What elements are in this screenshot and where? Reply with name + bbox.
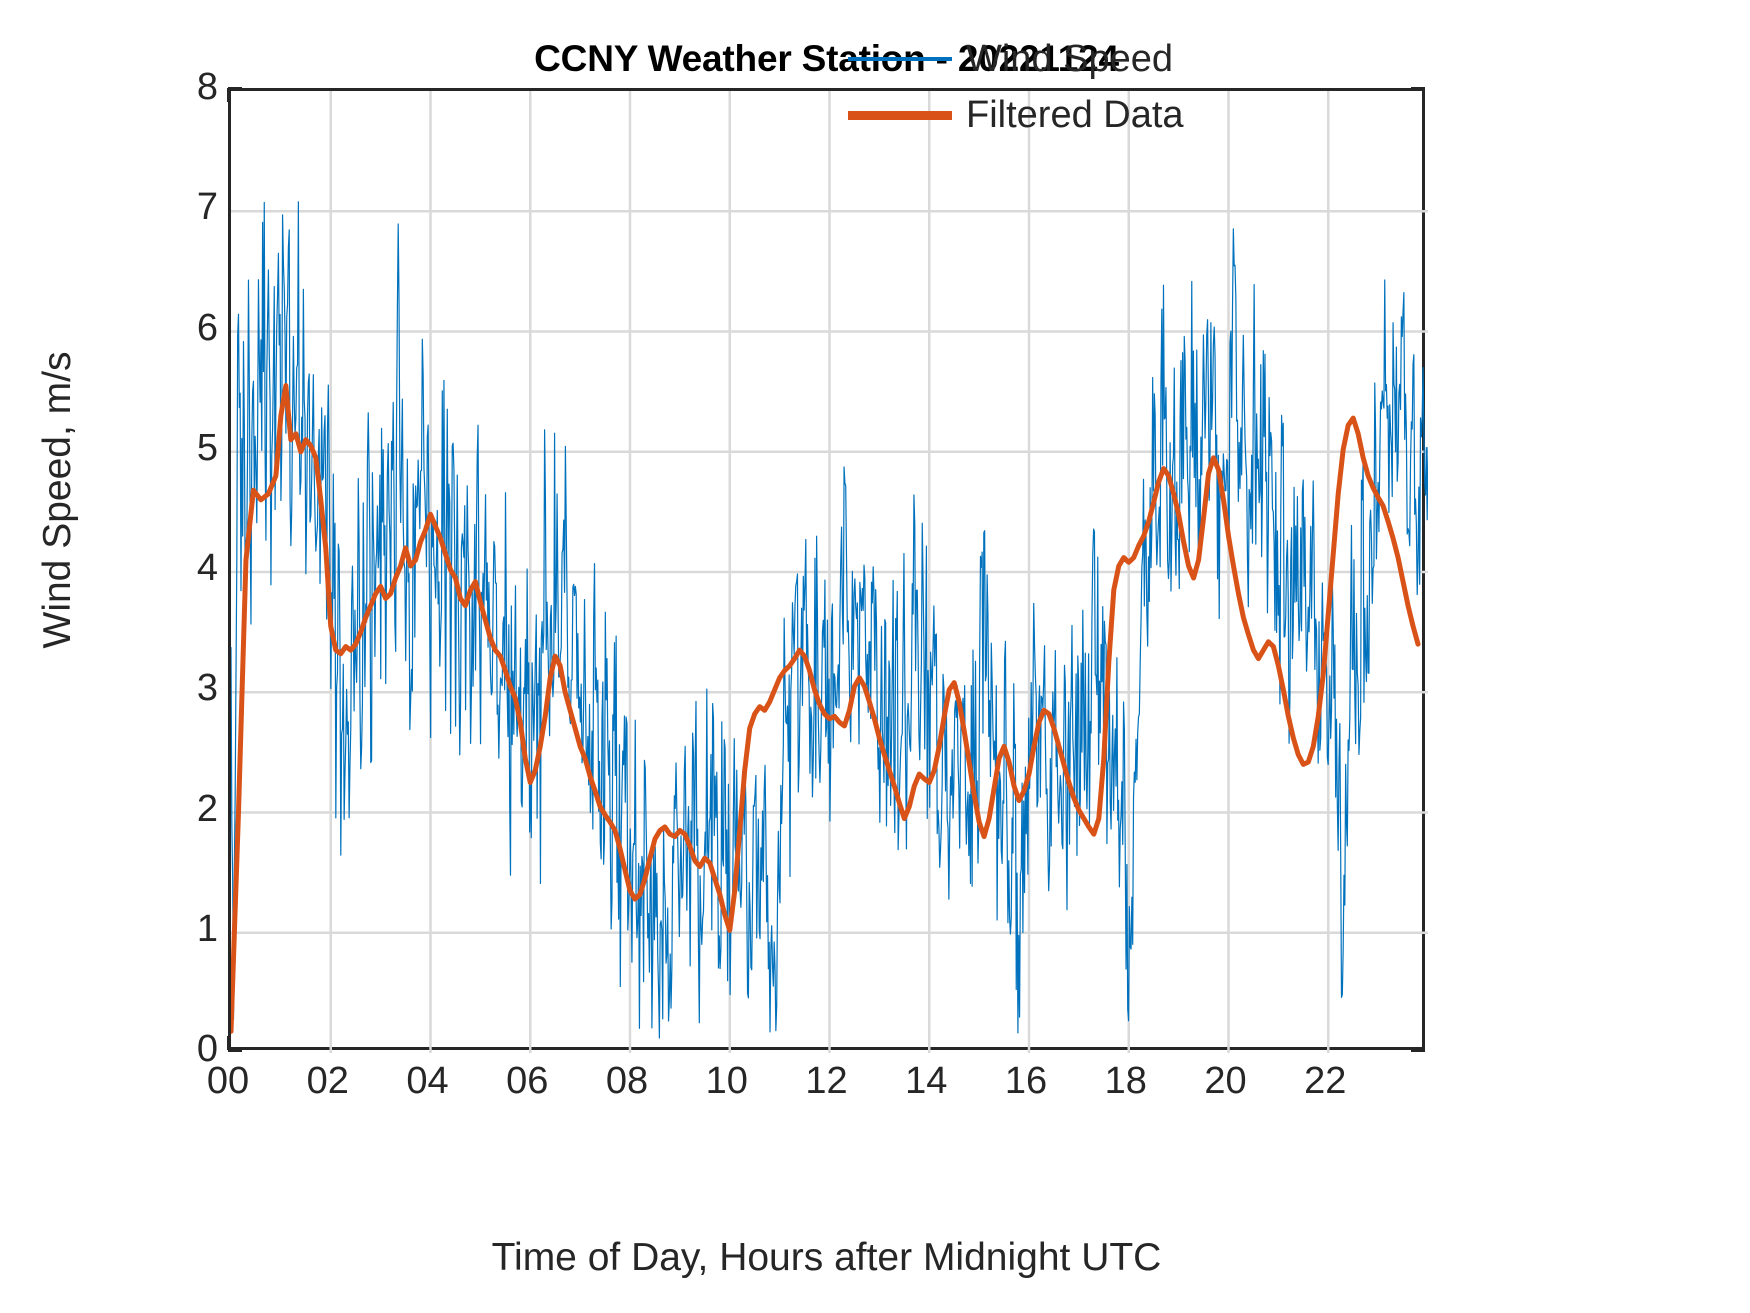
x-tick-label: 20 [1204,1062,1246,1100]
x-tick-label: 10 [706,1062,748,1100]
y-axis-label: Wind Speed, m/s [36,230,80,770]
legend-item-filtered-data[interactable]: Filtered Data [848,91,1184,139]
figure-canvas: CCNY Weather Station - 20221124 Wind Spe… [0,0,1750,1313]
x-tick-label: 04 [406,1062,448,1100]
y-tick-label: 2 [197,790,218,828]
y-tick-label: 3 [197,669,218,707]
legend-label-wind-speed: Wind Speed [966,40,1173,78]
y-tick-label: 8 [197,68,218,106]
x-tick-label: 02 [307,1062,349,1100]
x-tick-label: 08 [606,1062,648,1100]
legend-swatch-filtered-data [848,111,952,120]
x-tick-label: 16 [1005,1062,1047,1100]
y-tick-label: 7 [197,188,218,226]
plot-area [228,88,1425,1050]
x-tick-label: 06 [506,1062,548,1100]
page-title: CCNY Weather Station - 20221124 [228,38,1425,80]
chart-legend[interactable]: Wind Speed Filtered Data [848,35,1178,140]
y-tick-label: 5 [197,429,218,467]
y-tick-label: 4 [197,549,218,587]
plot-svg [231,91,1428,1053]
y-tick-label: 6 [197,309,218,347]
x-tick-label: 22 [1304,1062,1346,1100]
legend-swatch-wind-speed [848,57,952,61]
x-tick-label: 12 [805,1062,847,1100]
legend-item-wind-speed[interactable]: Wind Speed [848,35,1173,83]
legend-label-filtered-data: Filtered Data [966,96,1184,134]
x-tick-label: 18 [1105,1062,1147,1100]
y-tick-label: 1 [197,910,218,948]
x-axis-label: Time of Day, Hours after Midnight UTC [228,1236,1425,1280]
x-tick-label: 14 [905,1062,947,1100]
x-tick-label: 00 [207,1062,249,1100]
